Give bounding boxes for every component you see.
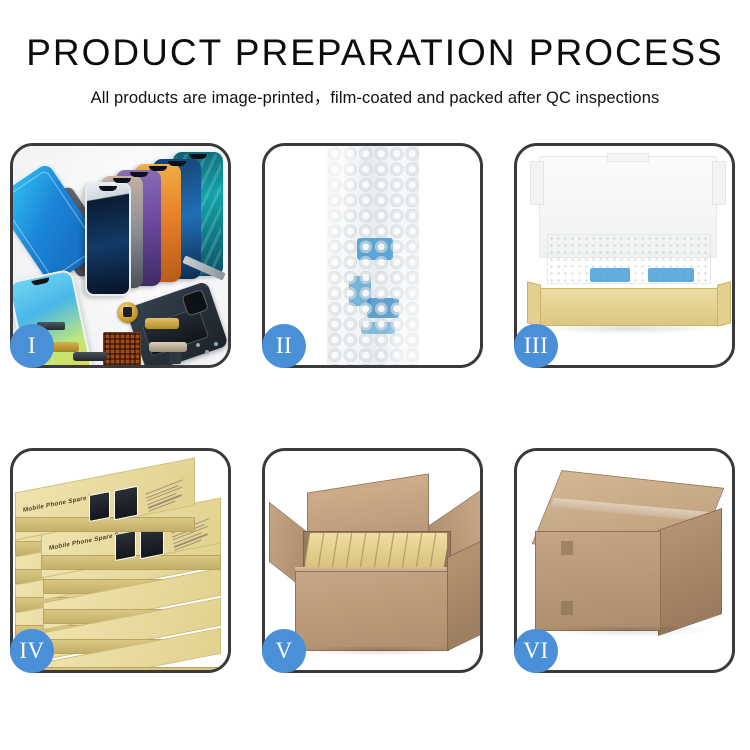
screws-group — [196, 341, 222, 359]
step-badge-1: I — [10, 324, 54, 368]
notch-icon — [113, 178, 131, 183]
speaker-coil-part — [117, 302, 138, 323]
kraft-box-base — [535, 288, 723, 326]
screen-blue-accent — [648, 268, 694, 282]
bubble-wrap-bag — [327, 146, 419, 365]
connector-part — [169, 352, 181, 364]
notch-icon — [189, 154, 207, 159]
process-step-4: Mobile Phone Spare Parts Mobile P — [10, 448, 231, 673]
box-phone-graphic — [114, 486, 138, 521]
carton-side-face — [658, 508, 722, 636]
carton-side-face — [447, 541, 480, 652]
notch-icon — [31, 277, 50, 286]
box-phone-graphic — [89, 491, 110, 522]
plastic-sheen — [327, 146, 419, 365]
box-side-face — [43, 667, 221, 670]
page-subtitle: All products are image-printed，film-coat… — [0, 84, 750, 108]
step-badge-6: VI — [514, 629, 558, 673]
sealed-carton — [535, 479, 725, 649]
header: PRODUCT PREPARATION PROCESS All products… — [0, 0, 750, 108]
process-step-3: III — [514, 143, 735, 368]
drop-shadow — [543, 326, 713, 334]
retail-box-printed: Mobile Phone Spare Parts — [15, 475, 193, 521]
notch-icon — [149, 166, 167, 171]
box-side-face — [15, 517, 195, 532]
page-title: PRODUCT PREPARATION PROCESS — [0, 34, 750, 73]
copper-mesh-part — [103, 332, 141, 365]
screen-blue-accent — [590, 268, 630, 282]
carton-seam — [561, 601, 573, 615]
lid-tab-right — [712, 161, 726, 205]
open-carton — [281, 487, 471, 657]
retail-box — [43, 645, 219, 669]
notch-icon — [130, 172, 148, 177]
carton-seam — [561, 541, 573, 555]
drop-shadow — [301, 647, 461, 656]
carton-front-face — [295, 571, 449, 651]
step-badge-2: II — [262, 324, 306, 368]
process-panel-grid: I II — [10, 143, 740, 673]
step-badge-4: IV — [10, 629, 54, 673]
step-badge-5: V — [262, 629, 306, 673]
lid-tab-left — [530, 161, 544, 205]
box-phone-graphic — [115, 530, 136, 561]
flex-cable-part — [145, 318, 179, 329]
process-step-2: II — [262, 143, 483, 368]
drop-shadow — [549, 627, 709, 637]
notch-icon — [168, 161, 186, 166]
flex-cable-part — [149, 342, 187, 352]
product-preparation-infographic: PRODUCT PREPARATION PROCESS All products… — [0, 0, 750, 750]
process-step-1: I — [10, 143, 231, 368]
phone-screen-dark — [85, 182, 131, 296]
notch-icon — [99, 186, 117, 191]
flex-cable-part — [73, 352, 107, 361]
process-step-6: VI — [514, 448, 735, 673]
process-step-5: V — [262, 448, 483, 673]
step-badge-3: III — [514, 324, 558, 368]
carton-front-face — [535, 531, 661, 631]
